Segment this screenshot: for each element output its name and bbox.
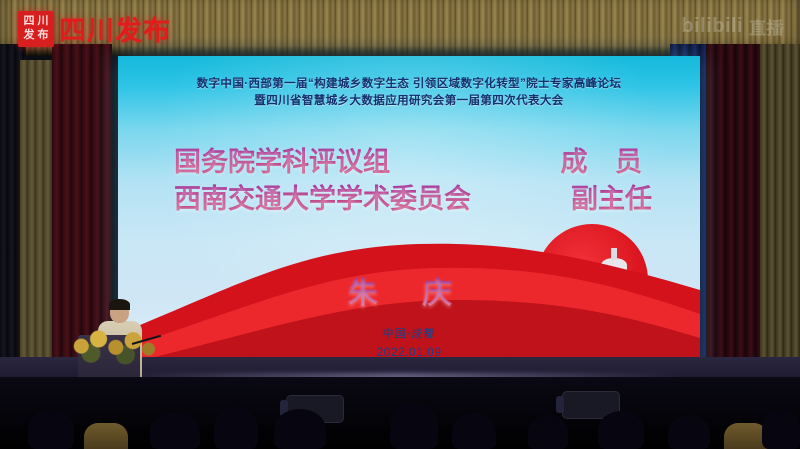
video-frame: 数字中国·西部第一届“构建城乡数字生态 引领区域数字化转型”院士专家高峰论坛 暨… xyxy=(0,0,800,449)
audience-head xyxy=(598,411,644,449)
channel-wordmark: 四川发布 xyxy=(59,9,171,48)
seal-char: 四 xyxy=(24,16,35,27)
presenter-hair xyxy=(109,299,130,310)
channel-logo: 四 川 发 布 四川发布 xyxy=(18,9,171,48)
seal-char: 川 xyxy=(38,16,49,27)
event-header-line-1: 数字中国·西部第一届“构建城乡数字生态 引领区域数字化转型”院士专家高峰论坛 xyxy=(118,76,700,93)
credential-role: 副主任 xyxy=(571,181,652,218)
audience-head xyxy=(214,407,258,449)
audience-head xyxy=(390,403,438,449)
watermark-live-label: 直播 xyxy=(749,14,784,39)
seal-characters: 四 川 发 布 xyxy=(22,15,50,43)
bilibili-live-watermark: bilibili 直播 xyxy=(681,14,784,39)
seal-char: 布 xyxy=(38,30,49,41)
audience-foreground xyxy=(0,377,800,449)
led-presentation-screen: 数字中国·西部第一届“构建城乡数字生态 引领区域数字化转型”院士专家高峰论坛 暨… xyxy=(118,56,700,388)
speaker-name: 朱 庆 xyxy=(118,268,700,312)
speaker-credentials: 国务院学科评议组 成 员 西南交通大学学术委员会 副主任 xyxy=(174,144,652,219)
audience-head xyxy=(528,415,568,449)
audience-head xyxy=(668,415,710,449)
watermark-brand: bilibili xyxy=(681,15,743,38)
event-header-line-2: 暨四川省智慧城乡大数据应用研究会第一届第四次代表大会 xyxy=(118,93,700,110)
event-location: 中国·成都 xyxy=(118,326,700,343)
credential-row: 国务院学科评议组 成 员 xyxy=(174,144,652,181)
audience-head xyxy=(762,409,800,449)
credential-organization: 西南交通大学学术委员会 xyxy=(174,181,471,218)
podium-flower-arrangement xyxy=(64,323,160,365)
event-header: 数字中国·西部第一届“构建城乡数字生态 引领区域数字化转型”院士专家高峰论坛 暨… xyxy=(118,76,700,109)
seal-char: 发 xyxy=(24,30,35,41)
credential-role: 成 员 xyxy=(560,144,652,181)
audience-head xyxy=(150,413,200,449)
audience-head xyxy=(28,409,74,449)
credential-organization: 国务院学科评议组 xyxy=(174,144,390,181)
credential-row: 西南交通大学学术委员会 副主任 xyxy=(174,181,652,218)
audience-head xyxy=(452,413,496,449)
audience-chair xyxy=(84,423,128,449)
audience-head xyxy=(274,409,326,449)
channel-seal-icon: 四 川 发 布 xyxy=(18,11,54,47)
